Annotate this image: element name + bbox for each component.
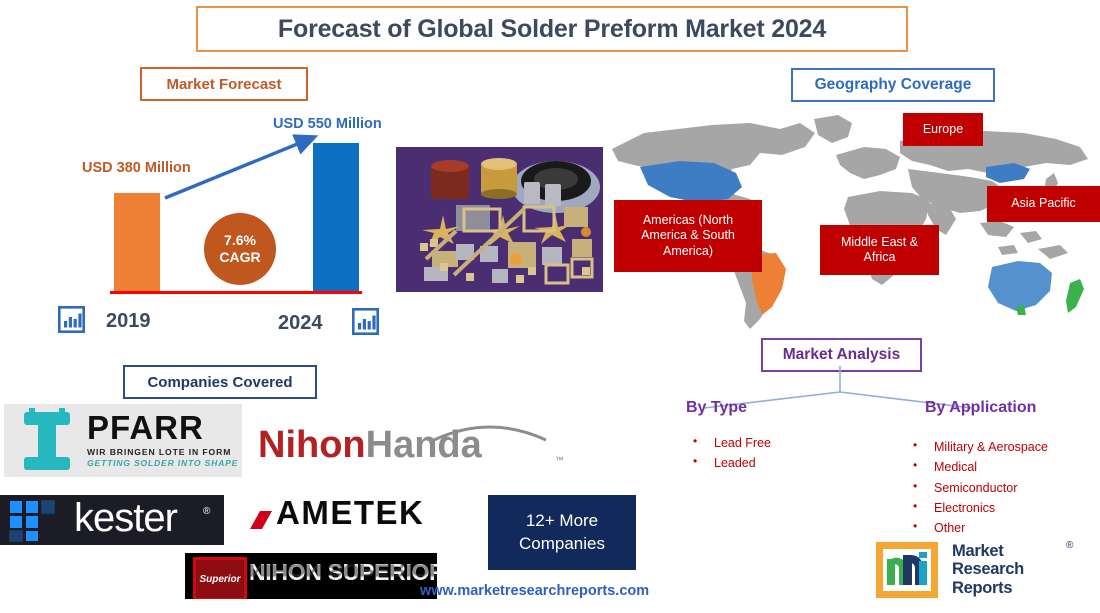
list-item: Lead Free [690,433,771,453]
mrr-m-mark-icon [876,542,938,598]
map-label-middle-east-africa: Middle East & Africa [820,225,939,275]
list-item: Medical [910,457,1048,477]
pfarr-name: PFARR [87,411,238,444]
nihonhanda-name-part2: Handa [366,424,482,466]
chart-baseline [110,291,362,294]
map-label-europe: Europe [903,113,983,146]
company-logo-nihonhanda: NihonHanda ™ [258,418,580,476]
solder-preform-product-photo [396,147,603,292]
cagr-label: CAGR [219,249,260,267]
company-logo-nihon-superior: Superior NIHON SUPERIOR NIHON SUPERIOR [185,553,437,599]
page-title-box: Forecast of Global Solder Preform Market… [196,6,908,52]
website-url[interactable]: www.marketresearchreports.com [420,583,649,599]
section-header-geography-label: Geography Coverage [815,76,972,94]
axis-label-2019: 2019 [106,310,151,333]
pfarr-tagline-en: GETTING SOLDER INTO SHAPE [87,458,238,468]
kester-squares-icon [6,495,68,545]
pfarr-tagline-de: WIR BRINGEN LOTE IN FORM [87,447,238,457]
company-logo-ametek: AMETEK [248,496,456,536]
ametek-accent-icon [248,509,278,531]
bar-chart-icon [352,308,379,335]
list-item: Semiconductor [910,478,1048,498]
list-item: Leaded [690,453,771,473]
section-header-companies-covered: Companies Covered [123,365,317,399]
map-label-asia-pacific: Asia Pacific [987,186,1100,222]
mrr-brand-text: Market Research Reports [952,542,1024,597]
nihon-superior-mark-icon: Superior [193,557,247,599]
mrr-brand-line2: Research [952,560,1024,578]
map-label-americas: Americas (North America & South America) [614,200,762,272]
cagr-bubble: 7.6% CAGR [204,213,276,285]
list-item: Electronics [910,498,1048,518]
nihonhanda-name-part1: Nihon [258,424,366,466]
bar-2019 [114,193,160,292]
section-header-market-analysis-label: Market Analysis [783,346,900,364]
cagr-value: 7.6% [224,232,256,250]
more-companies-line2: Companies [519,533,605,556]
kester-registered-mark: ® [203,506,210,517]
more-companies-line1: 12+ More [526,510,598,533]
mrr-brand-line1: Market [952,542,1024,560]
company-logo-pfarr: PFARR WIR BRINGEN LOTE IN FORM GETTING S… [4,404,242,477]
page-title: Forecast of Global Solder Preform Market… [278,15,826,44]
ametek-name: AMETEK [276,496,424,529]
bar-chart-icon [58,306,85,333]
analysis-list-by-type: Lead Free Leaded [690,433,771,474]
section-header-geography-coverage: Geography Coverage [791,68,995,102]
nihonhanda-trademark: ™ [555,455,564,465]
mrr-m-letter-icon [883,549,931,591]
analysis-heading-by-application: By Application [925,399,1036,417]
analysis-list-by-application: Military & Aerospace Medical Semiconduct… [910,437,1048,538]
map-highlight-newzealand [1066,279,1084,313]
kester-name: kester [74,497,177,540]
mrr-brand-line3: Reports [952,579,1024,597]
nihon-superior-mark-text: Superior [199,574,240,585]
section-header-market-forecast-label: Market Forecast [166,76,281,93]
section-header-companies-label: Companies Covered [147,374,292,391]
nihon-superior-name-reflection: NIHON SUPERIOR [249,560,437,580]
analysis-heading-by-type: By Type [686,399,747,417]
axis-label-2024: 2024 [278,312,323,335]
more-companies-box: 12+ More Companies [488,495,636,570]
section-header-market-forecast: Market Forecast [140,67,308,101]
list-item: Other [910,518,1048,538]
map-highlight-australia [988,261,1052,311]
list-item: Military & Aerospace [910,437,1048,457]
growth-arrow-icon [160,130,330,205]
company-logo-kester: kester ® [0,495,224,545]
pfarr-clamp-icon [14,408,84,474]
market-research-reports-logo: Market Research Reports ® [876,540,1090,602]
mrr-registered-mark: ® [1066,540,1073,551]
